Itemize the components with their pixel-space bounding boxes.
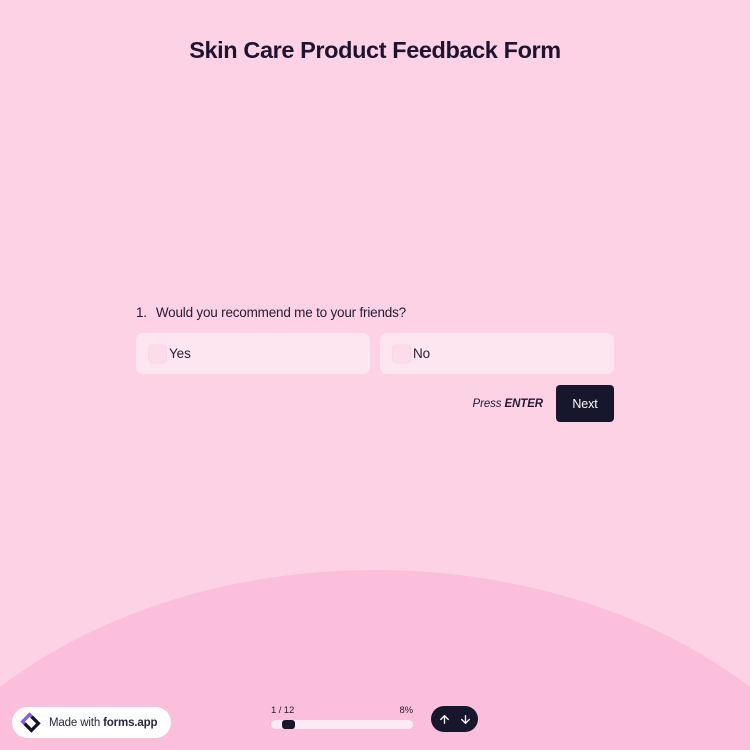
- progress-section: 1 / 12 8%: [271, 705, 413, 729]
- option-no[interactable]: No: [380, 333, 614, 374]
- question-block: 1. Would you recommend me to your friend…: [136, 305, 614, 374]
- progress-step-label: 1 / 12: [271, 705, 294, 716]
- nav-previous-button[interactable]: [436, 711, 453, 728]
- page-title: Skin Care Product Feedback Form: [0, 37, 750, 64]
- brand-name: forms.app: [103, 717, 157, 729]
- option-label-yes: Yes: [169, 346, 191, 361]
- form-page: Skin Care Product Feedback Form 1. Would…: [0, 0, 750, 750]
- nav-pill: [431, 706, 478, 732]
- press-enter-key: ENTER: [505, 398, 543, 410]
- option-label-no: No: [413, 346, 430, 361]
- progress-meta: 1 / 12 8%: [271, 705, 413, 716]
- press-enter-prefix: Press: [473, 398, 505, 410]
- brand-prefix: Made with: [49, 717, 103, 729]
- next-button[interactable]: Next: [556, 385, 614, 422]
- press-enter-hint: Press ENTER: [473, 398, 543, 410]
- arrow-down-icon: [459, 713, 472, 726]
- question-line: 1. Would you recommend me to your friend…: [136, 305, 614, 320]
- progress-thumb[interactable]: [282, 720, 295, 729]
- option-key-badge-no: [392, 344, 411, 363]
- progress-bar[interactable]: [271, 720, 413, 729]
- brand-label: Made with forms.app: [49, 717, 157, 729]
- arrow-up-icon: [438, 713, 451, 726]
- question-text: Would you recommend me to your friends?: [156, 305, 406, 320]
- question-number: 1.: [136, 305, 147, 320]
- option-key-badge-yes: [148, 344, 167, 363]
- option-yes[interactable]: Yes: [136, 333, 370, 374]
- action-row: Press ENTER Next: [136, 385, 614, 422]
- option-list: Yes No: [136, 333, 614, 374]
- made-with-forms-app-badge[interactable]: Made with forms.app: [12, 707, 171, 738]
- progress-percent-label: 8%: [399, 705, 413, 716]
- nav-next-button[interactable]: [457, 711, 474, 728]
- forms-app-logo-icon: [20, 712, 41, 733]
